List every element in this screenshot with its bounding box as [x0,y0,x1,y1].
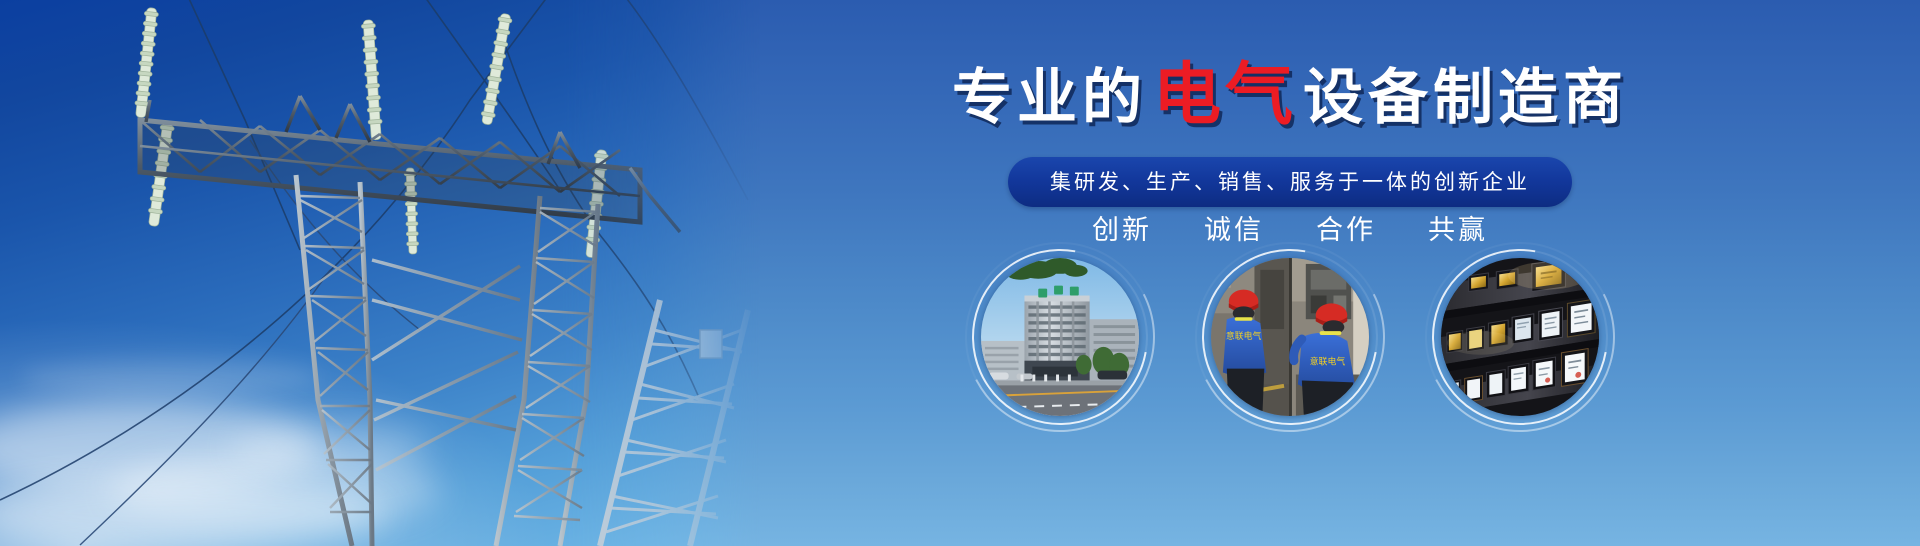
banner-content: 专业的电气设备制造商 集研发、生产、销售、服务于一体的创新企业 创新 诚信 合作… [660,0,1920,546]
certificates-wall-photo [1441,258,1599,416]
page-title: 专业的电气设备制造商 [660,62,1920,130]
tower-body [296,175,598,546]
keyword-item-3: 合作 [1316,208,1376,247]
transmission-tower-photo [0,0,760,546]
office-building-illustration [981,258,1139,416]
photo-circle-workers[interactable]: 意联电气 [1211,258,1369,416]
headline-part-1: 专业的 [952,63,1147,133]
headline-part-2: 设备制造商 [1303,63,1628,133]
subtitle-pill: 集研发、生产、销售、服务于一体的创新企业 [1008,157,1572,207]
photo-circle-list: 意联电气 [660,258,1920,416]
svg-text:意联电气: 意联电气 [1226,330,1262,342]
office-building-photo [981,258,1139,416]
workers-illustration: 意联电气 [1211,258,1369,416]
certificates-wall-illustration [1441,258,1599,416]
keyword-item-2: 诚信 [1204,208,1264,247]
keyword-item-4: 共赢 [1428,208,1488,247]
keyword-item-1: 创新 [1092,208,1152,247]
headline-highlight: 电气 [1147,56,1303,135]
transmission-tower-illustration [0,0,760,546]
promo-banner: 专业的电气设备制造商 集研发、生产、销售、服务于一体的创新企业 创新 诚信 合作… [0,0,1920,546]
workers-equipment-photo: 意联电气 [1211,258,1369,416]
photo-circle-certificates[interactable] [1441,258,1599,416]
svg-text:意联电气: 意联电气 [1310,356,1346,368]
photo-circle-office-building[interactable] [981,258,1139,416]
